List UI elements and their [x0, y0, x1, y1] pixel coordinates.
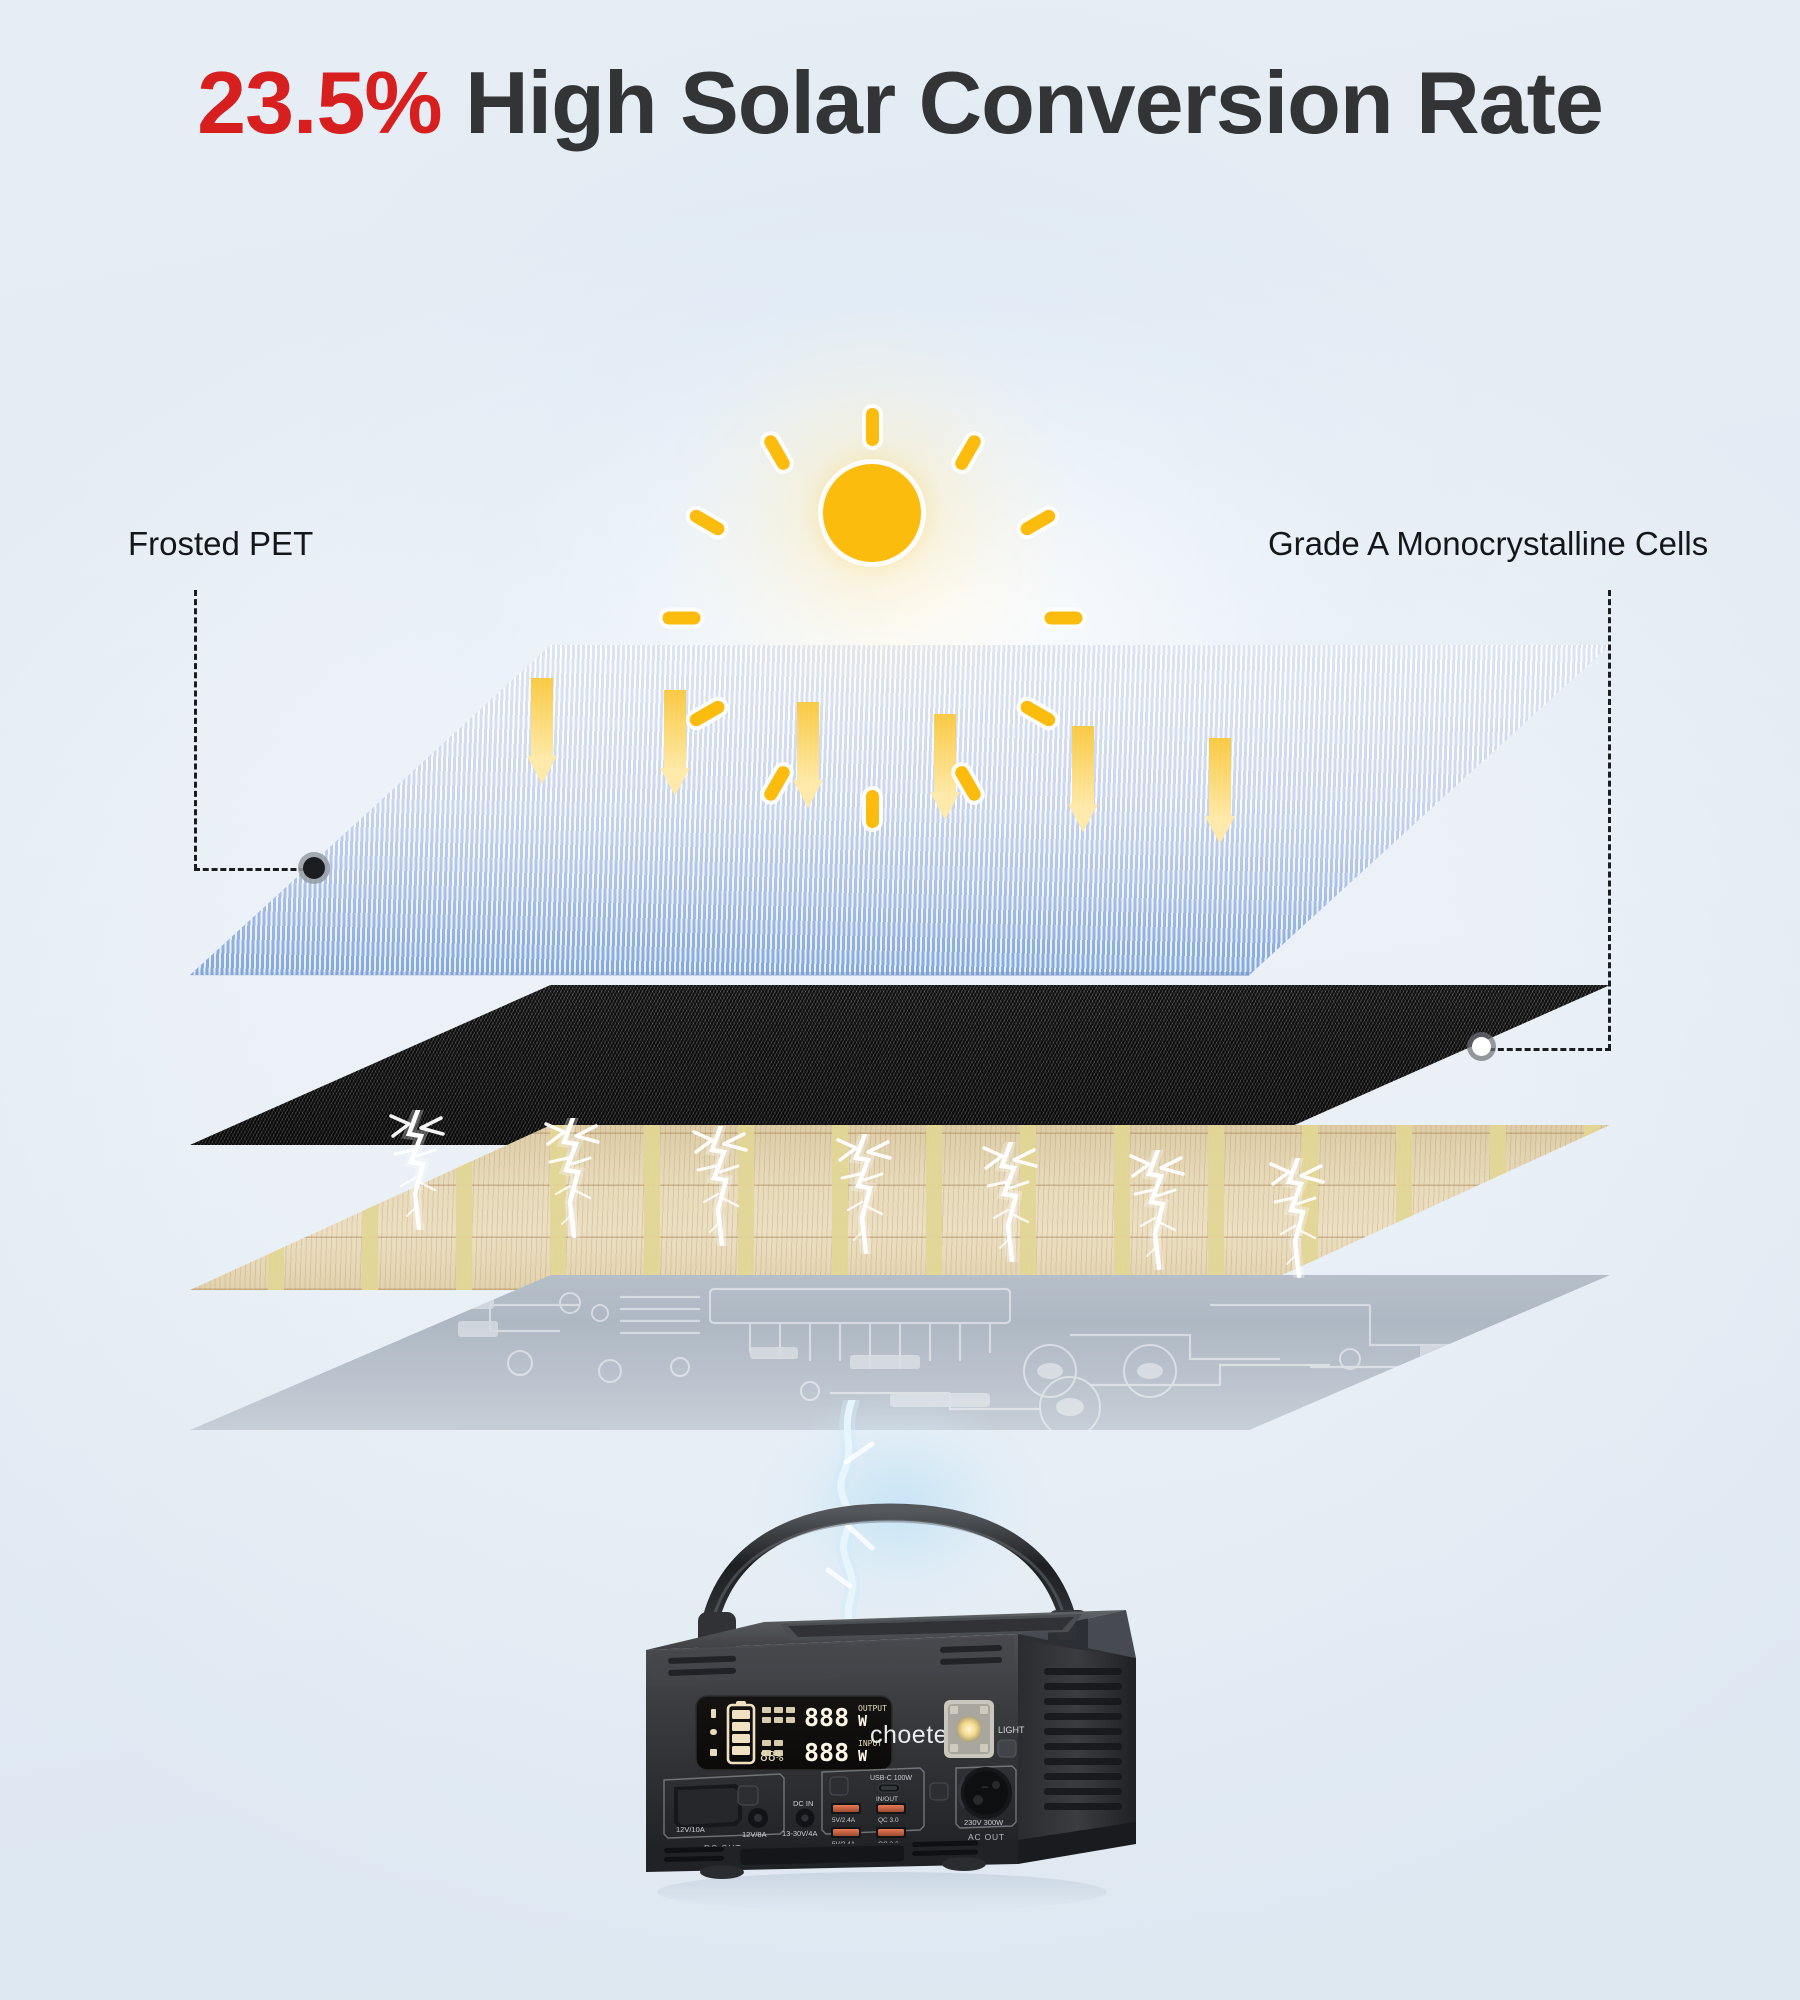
- sun-ray: [866, 790, 879, 828]
- callout-dot-right: [1472, 1037, 1491, 1056]
- pet-edge: [190, 972, 1252, 976]
- title-percentage: 23.5%: [197, 53, 442, 152]
- port-label-usb-c: USB-C 100W: [870, 1775, 912, 1782]
- port-label-ac: 230V 300W: [964, 1818, 1004, 1827]
- exploded-layer-stack: [0, 0, 1800, 1450]
- leader-line-right-vertical: [1608, 590, 1611, 1050]
- lightning-bolt: [822, 1134, 908, 1254]
- arrow-head: [930, 792, 960, 820]
- page-title: 23.5% High Solar Conversion Rate: [0, 52, 1800, 154]
- lcd-output-unit: W: [858, 1712, 868, 1730]
- leader-line-left-horizontal: [194, 868, 314, 871]
- port-label-13-30v4a: 13-30V/4A: [782, 1829, 817, 1838]
- port-label-12v8a: 12V/8A: [742, 1830, 767, 1839]
- arrow-head: [1205, 816, 1235, 844]
- leader-line-right-horizontal: [1480, 1048, 1611, 1051]
- sun-ray: [1044, 612, 1082, 625]
- lcd-output-label: OUTPUT: [858, 1704, 887, 1713]
- sunlight-arrow: [1068, 726, 1098, 832]
- lightning-bolt: [678, 1126, 764, 1246]
- lcd-output-value: 888: [804, 1703, 849, 1732]
- port-label-qc-1: QC 3.0: [878, 1817, 899, 1824]
- lcd-input-value: 888: [804, 1738, 849, 1767]
- station-side-face: [1018, 1634, 1136, 1848]
- callout-dot-left: [303, 857, 325, 879]
- port-group-label-dc-in: DC IN: [793, 1799, 813, 1808]
- leader-line-left-vertical: [194, 590, 197, 870]
- arrow-head: [527, 756, 557, 784]
- lcd-input-unit: W: [858, 1747, 868, 1765]
- lightning-bolt: [1255, 1158, 1341, 1278]
- light-button-label: LIGHT: [998, 1725, 1025, 1735]
- lightning-bolt: [1115, 1150, 1201, 1270]
- lcd-display: 88% 888 W OUTPUT 888 W INPUT: [696, 1696, 892, 1770]
- arrow-shaft: [934, 714, 956, 792]
- port-label-12v10a: 12V/10A: [676, 1825, 705, 1834]
- lightning-bolt: [968, 1142, 1054, 1262]
- portable-power-station: 88% 888 W OUTPUT 888 W INPUT choetech: [612, 1500, 1192, 1930]
- led-light-module: [944, 1700, 994, 1758]
- sunlight-arrow: [527, 678, 557, 784]
- sun-ray: [662, 612, 700, 625]
- title-rest: High Solar Conversion Rate: [442, 53, 1603, 152]
- light-button[interactable]: [998, 1740, 1016, 1757]
- arrow-head: [660, 768, 690, 796]
- port-label-usb-a-1: 5V/2.4A: [832, 1817, 856, 1824]
- arrow-shaft: [531, 678, 553, 756]
- sun-core: [823, 464, 921, 562]
- lightning-bolt: [530, 1118, 616, 1238]
- arrow-head: [793, 780, 823, 808]
- callout-label-frosted-pet: Frosted PET: [128, 525, 313, 563]
- sun-icon: [757, 398, 987, 628]
- callout-label-mono-cells: Grade A Monocrystalline Cells: [1268, 525, 1708, 563]
- arrow-head: [1068, 804, 1098, 832]
- arrow-shaft: [1072, 726, 1094, 804]
- port-label-usb-c-sub: IN/OUT: [876, 1796, 898, 1803]
- sunlight-arrow: [930, 714, 960, 820]
- arrow-shaft: [1209, 738, 1231, 816]
- sunlight-arrow: [1205, 738, 1235, 844]
- sun-ray: [866, 408, 879, 446]
- lightning-bolt: [375, 1110, 461, 1230]
